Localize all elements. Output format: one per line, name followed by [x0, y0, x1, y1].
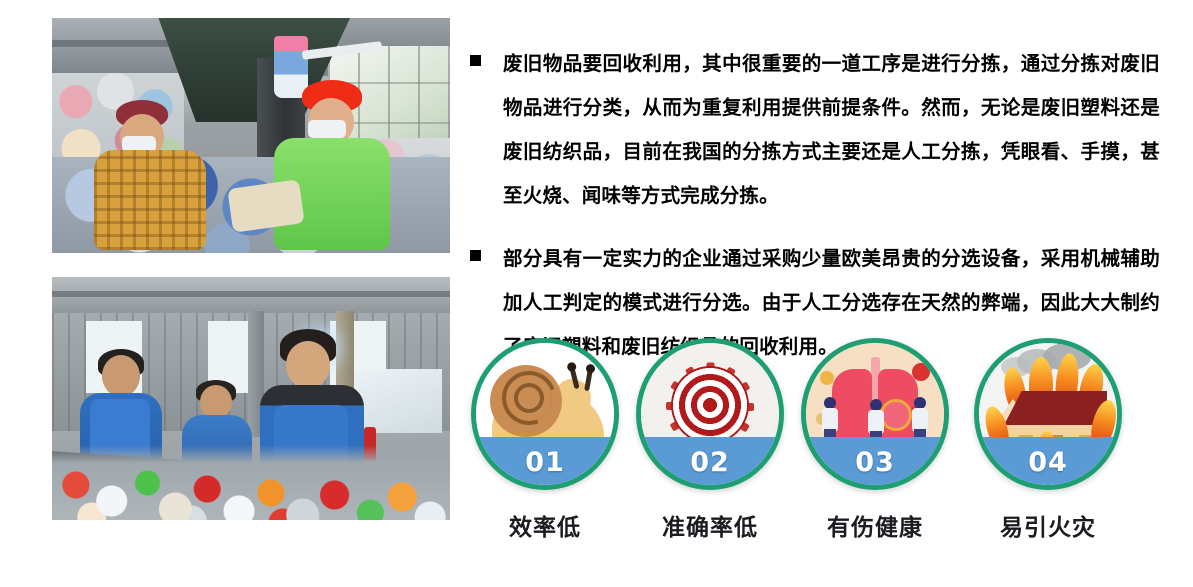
virus-particle — [912, 363, 930, 381]
snail-eyestalk — [584, 369, 593, 392]
icon-cell-03[interactable]: 03 有伤健康 — [799, 338, 951, 542]
bullet-square-icon — [470, 250, 481, 261]
icon-cell-04[interactable]: 04 易引火灾 — [972, 338, 1124, 542]
doctor-figure — [822, 397, 838, 441]
target-rings — [671, 366, 749, 444]
icon-number-02: 02 — [641, 443, 779, 483]
bottle-sorting-scene — [52, 277, 450, 520]
magnifier-icon — [880, 399, 912, 431]
icon-label-04: 易引火灾 — [972, 508, 1124, 542]
icon-label-03: 有伤健康 — [799, 508, 951, 542]
icon-cell-02[interactable]: 02 准确率低 — [634, 338, 786, 542]
icon-number-03: 03 — [806, 443, 944, 483]
face-mask — [308, 120, 346, 138]
bullet-paragraph-1: 废旧物品要回收利用，其中很重要的一道工序是进行分拣，通过分拣对废旧物品进行分类，… — [460, 42, 1160, 218]
icon-circle-02[interactable]: 02 — [636, 338, 784, 490]
icon-circle-01[interactable]: 01 — [471, 338, 619, 490]
worker-yellow-jacket — [94, 100, 212, 250]
virus-particle — [820, 371, 834, 385]
lung-left — [832, 369, 872, 447]
textile-sorting-scene — [52, 18, 450, 253]
icon-circle-03[interactable]: 03 — [801, 338, 949, 490]
icon-number-01: 01 — [476, 443, 614, 483]
worker-head — [200, 385, 232, 419]
icon-number-04: 04 — [979, 443, 1117, 483]
problem-icon-row: 01 效率低 02 准确率低 — [465, 338, 1165, 568]
icon-circle-04[interactable]: 04 — [974, 338, 1122, 490]
bullet-square-icon — [470, 55, 481, 66]
worker-torso — [94, 150, 206, 250]
worker-green-jacket — [274, 80, 394, 250]
icon-label-02: 准确率低 — [634, 508, 786, 542]
paragraph-1-text: 废旧物品要回收利用，其中很重要的一道工序是进行分拣，通过分拣对废旧物品进行分类，… — [503, 42, 1160, 218]
doctor-figure — [912, 397, 928, 441]
icon-label-01: 效率低 — [469, 508, 621, 542]
textile-sorting-photo — [52, 18, 450, 253]
body-text-column: 废旧物品要回收利用，其中很重要的一道工序是进行分拣，通过分拣对废旧物品进行分类，… — [460, 22, 1160, 389]
bottle-sorting-photo — [52, 277, 450, 520]
plastic-bottle-pile — [52, 423, 450, 520]
roof-beam — [52, 291, 450, 297]
icon-cell-01[interactable]: 01 效率低 — [469, 338, 621, 542]
worker-head — [102, 355, 140, 397]
worker-head — [286, 341, 330, 389]
